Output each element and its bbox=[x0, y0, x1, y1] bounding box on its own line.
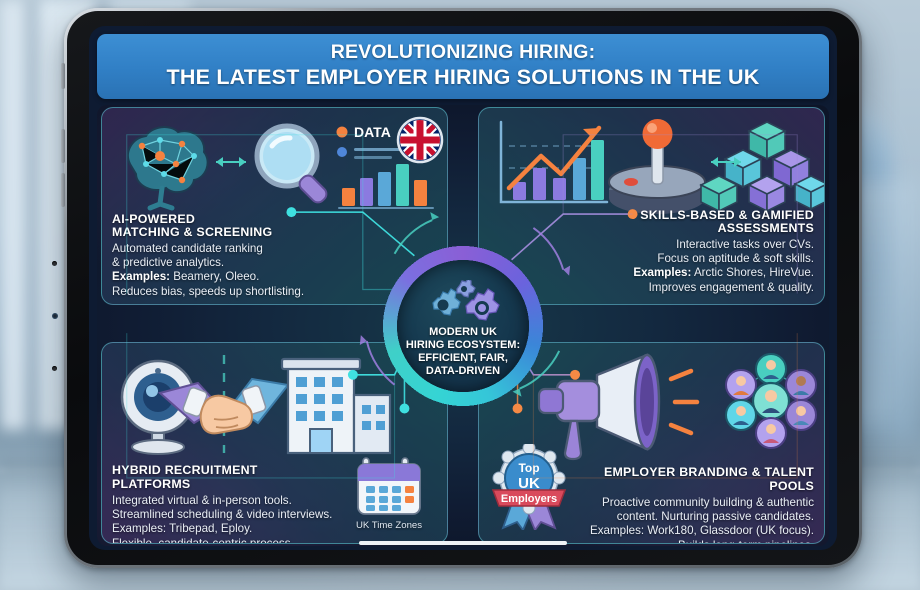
panel-examples-value-skills: Arctic Shores, HireVue. bbox=[691, 266, 814, 279]
tablet-device: REVOLUTIONIZING HIRING: THE LATEST EMPLO… bbox=[64, 8, 862, 568]
svg-text:Top: Top bbox=[518, 461, 539, 475]
center-hub[interactable]: MODERN UK HIRING ECOSYSTEM: EFFICIENT, F… bbox=[365, 228, 561, 424]
tablet-screen: REVOLUTIONIZING HIRING: THE LATEST EMPLO… bbox=[89, 26, 837, 550]
panel-title-skills-line1: SKILLS-BASED & GAMIFIED bbox=[489, 208, 814, 222]
panel-title-hybrid: HYBRID RECRUITMENT PLATFORMS bbox=[112, 463, 339, 491]
panel-examples-value-hybrid: Tribepad, Eploy. bbox=[166, 522, 252, 535]
bar-chart-icon bbox=[338, 164, 434, 209]
uk-flag-icon bbox=[398, 118, 442, 162]
home-indicator[interactable] bbox=[359, 541, 567, 545]
panel-examples-label-skills: Examples: bbox=[633, 266, 691, 279]
panel-text-branding: EMPLOYER BRANDING & TALENT POOLS Proacti… bbox=[577, 465, 814, 544]
cubes-icon bbox=[701, 122, 825, 211]
panel-text-hybrid: HYBRID RECRUITMENT PLATFORMS Integrated … bbox=[112, 463, 339, 544]
people-network-icon bbox=[726, 354, 816, 448]
award-badge-icon: Top UK Employers bbox=[489, 444, 569, 530]
infographic-board: DATA bbox=[97, 105, 829, 546]
panel-body-hybrid-line4: Flexible, candidate-centric process. bbox=[112, 537, 339, 544]
calendar-icon bbox=[354, 455, 424, 517]
power-button[interactable] bbox=[61, 63, 65, 89]
panel-examples-label-branding: Examples: bbox=[590, 524, 644, 537]
microphone-hole-icon bbox=[52, 366, 57, 371]
panel-body-branding-line4: Builds long-term pipelines. bbox=[577, 539, 814, 544]
infographic-header: REVOLUTIONIZING HIRING: THE LATEST EMPLO… bbox=[97, 34, 829, 99]
data-legend: DATA bbox=[337, 124, 405, 159]
panel-examples-label-ai: Examples: bbox=[112, 270, 170, 283]
panel-title-branding: EMPLOYER BRANDING & TALENT POOLS bbox=[577, 465, 814, 493]
hub-line4: DATA-DRIVEN bbox=[406, 365, 520, 378]
gears-icon bbox=[420, 280, 506, 328]
calendar-group: UK Time Zones bbox=[343, 455, 435, 531]
panel-body-branding-line1: Proactive community building & authentic bbox=[577, 496, 814, 510]
panel-examples-value-branding: Work180, Glassdoor (UK focus). bbox=[644, 524, 814, 537]
panel-body-branding-line2: content. Nurturing passive candidates. bbox=[577, 510, 814, 524]
panel-examples-value-ai: Beamery, Oleeo. bbox=[170, 270, 259, 283]
hub-line3: EFFICIENT, FAIR, bbox=[406, 352, 520, 365]
svg-text:Employers: Employers bbox=[501, 493, 557, 505]
joystick-icon bbox=[609, 119, 705, 214]
panel-body-hybrid-line1: Integrated virtual & in-person tools. bbox=[112, 494, 339, 508]
hub-line2: HIRING ECOSYSTEM: bbox=[406, 339, 520, 352]
hub-core: MODERN UK HIRING ECOSYSTEM: EFFICIENT, F… bbox=[397, 260, 529, 392]
calendar-label: UK Time Zones bbox=[343, 520, 435, 531]
panel-examples-label-hybrid: Examples: bbox=[112, 522, 166, 535]
panel-artwork-skills bbox=[479, 112, 824, 214]
bidirectional-arrow-icon bbox=[216, 157, 246, 167]
tablet-bezel: REVOLUTIONIZING HIRING: THE LATEST EMPLO… bbox=[67, 11, 859, 565]
panel-title-ai-line1: AI-POWERED bbox=[112, 212, 437, 226]
award-badge-group: Top UK Employers Top UK Employers bbox=[489, 444, 569, 535]
svg-text:DATA: DATA bbox=[354, 124, 391, 140]
header-title-line2: THE LATEST EMPLOYER HIRING SOLUTIONS IN … bbox=[107, 64, 819, 90]
growth-chart-icon bbox=[501, 122, 607, 202]
header-title-line1: REVOLUTIONIZING HIRING: bbox=[107, 41, 819, 64]
brain-network-icon bbox=[128, 127, 208, 208]
front-camera-icon bbox=[52, 313, 58, 319]
volume-down-button[interactable] bbox=[61, 173, 65, 207]
panel-artwork-ai: DATA bbox=[102, 112, 447, 214]
screenshot-scene: REVOLUTIONIZING HIRING: THE LATEST EMPLO… bbox=[0, 0, 920, 590]
panel-body-hybrid-line2: Streamlined scheduling & video interview… bbox=[112, 508, 339, 522]
speaker-hole-icon bbox=[52, 261, 57, 266]
hub-text: MODERN UK HIRING ECOSYSTEM: EFFICIENT, F… bbox=[406, 326, 520, 378]
magnifier-icon bbox=[257, 126, 329, 205]
volume-up-button[interactable] bbox=[61, 129, 65, 163]
